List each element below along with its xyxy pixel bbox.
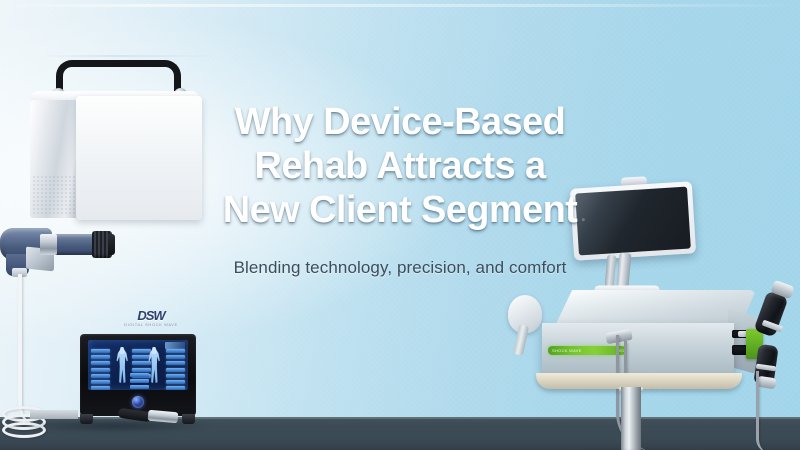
left-handpiece-chrome-band — [40, 234, 57, 255]
left-device-base-strip — [30, 410, 78, 419]
pedestal-pole — [621, 387, 641, 450]
tablet-display[interactable] — [570, 181, 696, 261]
left-device-carry-handle — [56, 60, 181, 94]
left-device-logo-secondary: DIGITAL SHOCK WAVE — [120, 323, 182, 327]
left-device-front-panel — [76, 96, 202, 220]
hero-banner: DSW DIGITAL SHOCK WAVE — [0, 0, 800, 450]
screen-button-column-right[interactable] — [166, 349, 185, 390]
left-device-power-emblem[interactable] — [132, 396, 144, 408]
left-device-vent-grid — [32, 175, 76, 215]
tablet-screen-glass — [575, 187, 691, 256]
screen-button-group-center[interactable] — [130, 373, 149, 390]
right-handpiece-upper — [753, 291, 788, 338]
screen-button-column-left[interactable] — [91, 349, 110, 390]
console-cable — [756, 371, 770, 450]
background-accent-line — [40, 55, 230, 57]
console-brand-label: SHOCK WAVE — [552, 347, 604, 354]
tablet-mount-arm-rear — [605, 255, 617, 288]
tablet-mount-arm — [617, 253, 632, 288]
left-device-logo-primary: DSW — [120, 309, 182, 322]
left-device-logo: DSW DIGITAL SHOCK WAVE — [120, 309, 182, 331]
background-top-highlight — [0, 4, 800, 7]
left-handpiece-assembly — [0, 218, 126, 278]
screen-logo-mark — [165, 342, 185, 349]
left-handpiece-tip-cap — [108, 234, 115, 255]
left-handpiece-cable — [18, 274, 52, 424]
left-device-shadow — [22, 420, 212, 432]
device-right-console-shockwave-system: SHOCK WAVE PRO — [520, 175, 800, 450]
left-device-touchscreen[interactable] — [88, 340, 188, 390]
screen-body-figure-front — [114, 347, 130, 383]
